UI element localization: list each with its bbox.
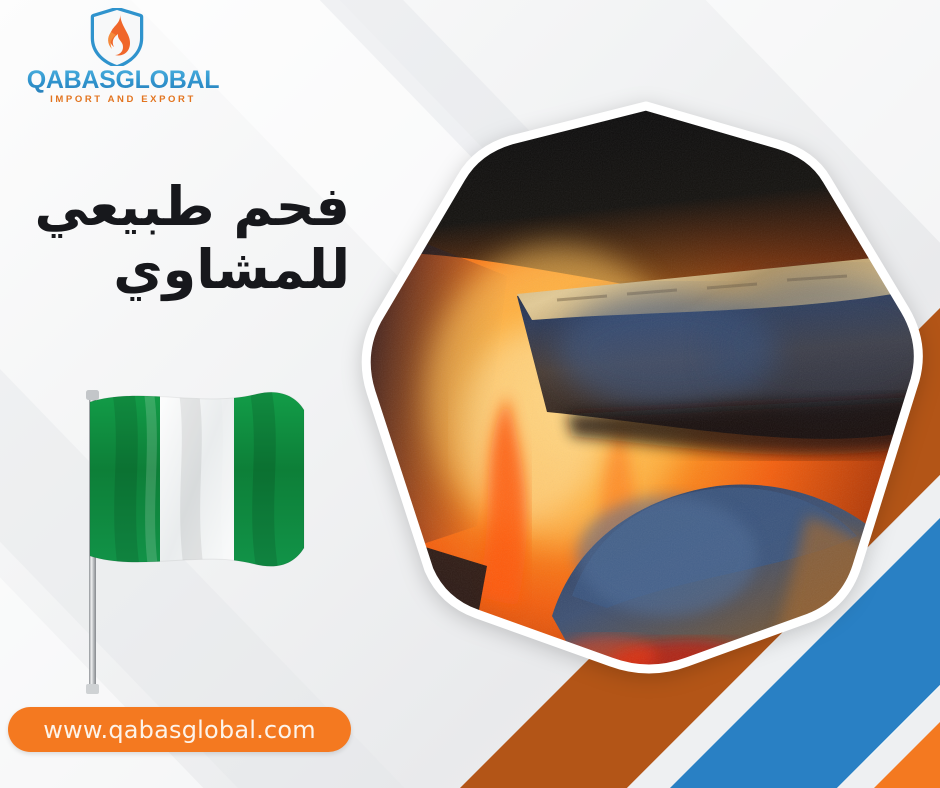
- flame-shield-icon: [90, 8, 144, 66]
- headline-line-2: للمشاوي: [20, 239, 350, 302]
- brand-name: QABASGLOBAL: [18, 66, 228, 95]
- brand-logo[interactable]: QABASGLOBAL IMPORT AND EXPORT: [18, 6, 228, 114]
- website-url-text: www.qabasglobal.com: [43, 716, 316, 744]
- brand-tagline: IMPORT AND EXPORT: [18, 94, 228, 105]
- website-url-badge[interactable]: www.qabasglobal.com: [8, 707, 351, 752]
- poster-canvas: QABASGLOBAL IMPORT AND EXPORT فحم طبيعي …: [0, 0, 940, 788]
- page-title: فحم طبيعي للمشاوي: [20, 176, 350, 301]
- burning-charcoal-photo: [357, 96, 935, 676]
- headline-line-1: فحم طبيعي: [35, 175, 350, 238]
- nigeria-flag-icon: [82, 380, 312, 700]
